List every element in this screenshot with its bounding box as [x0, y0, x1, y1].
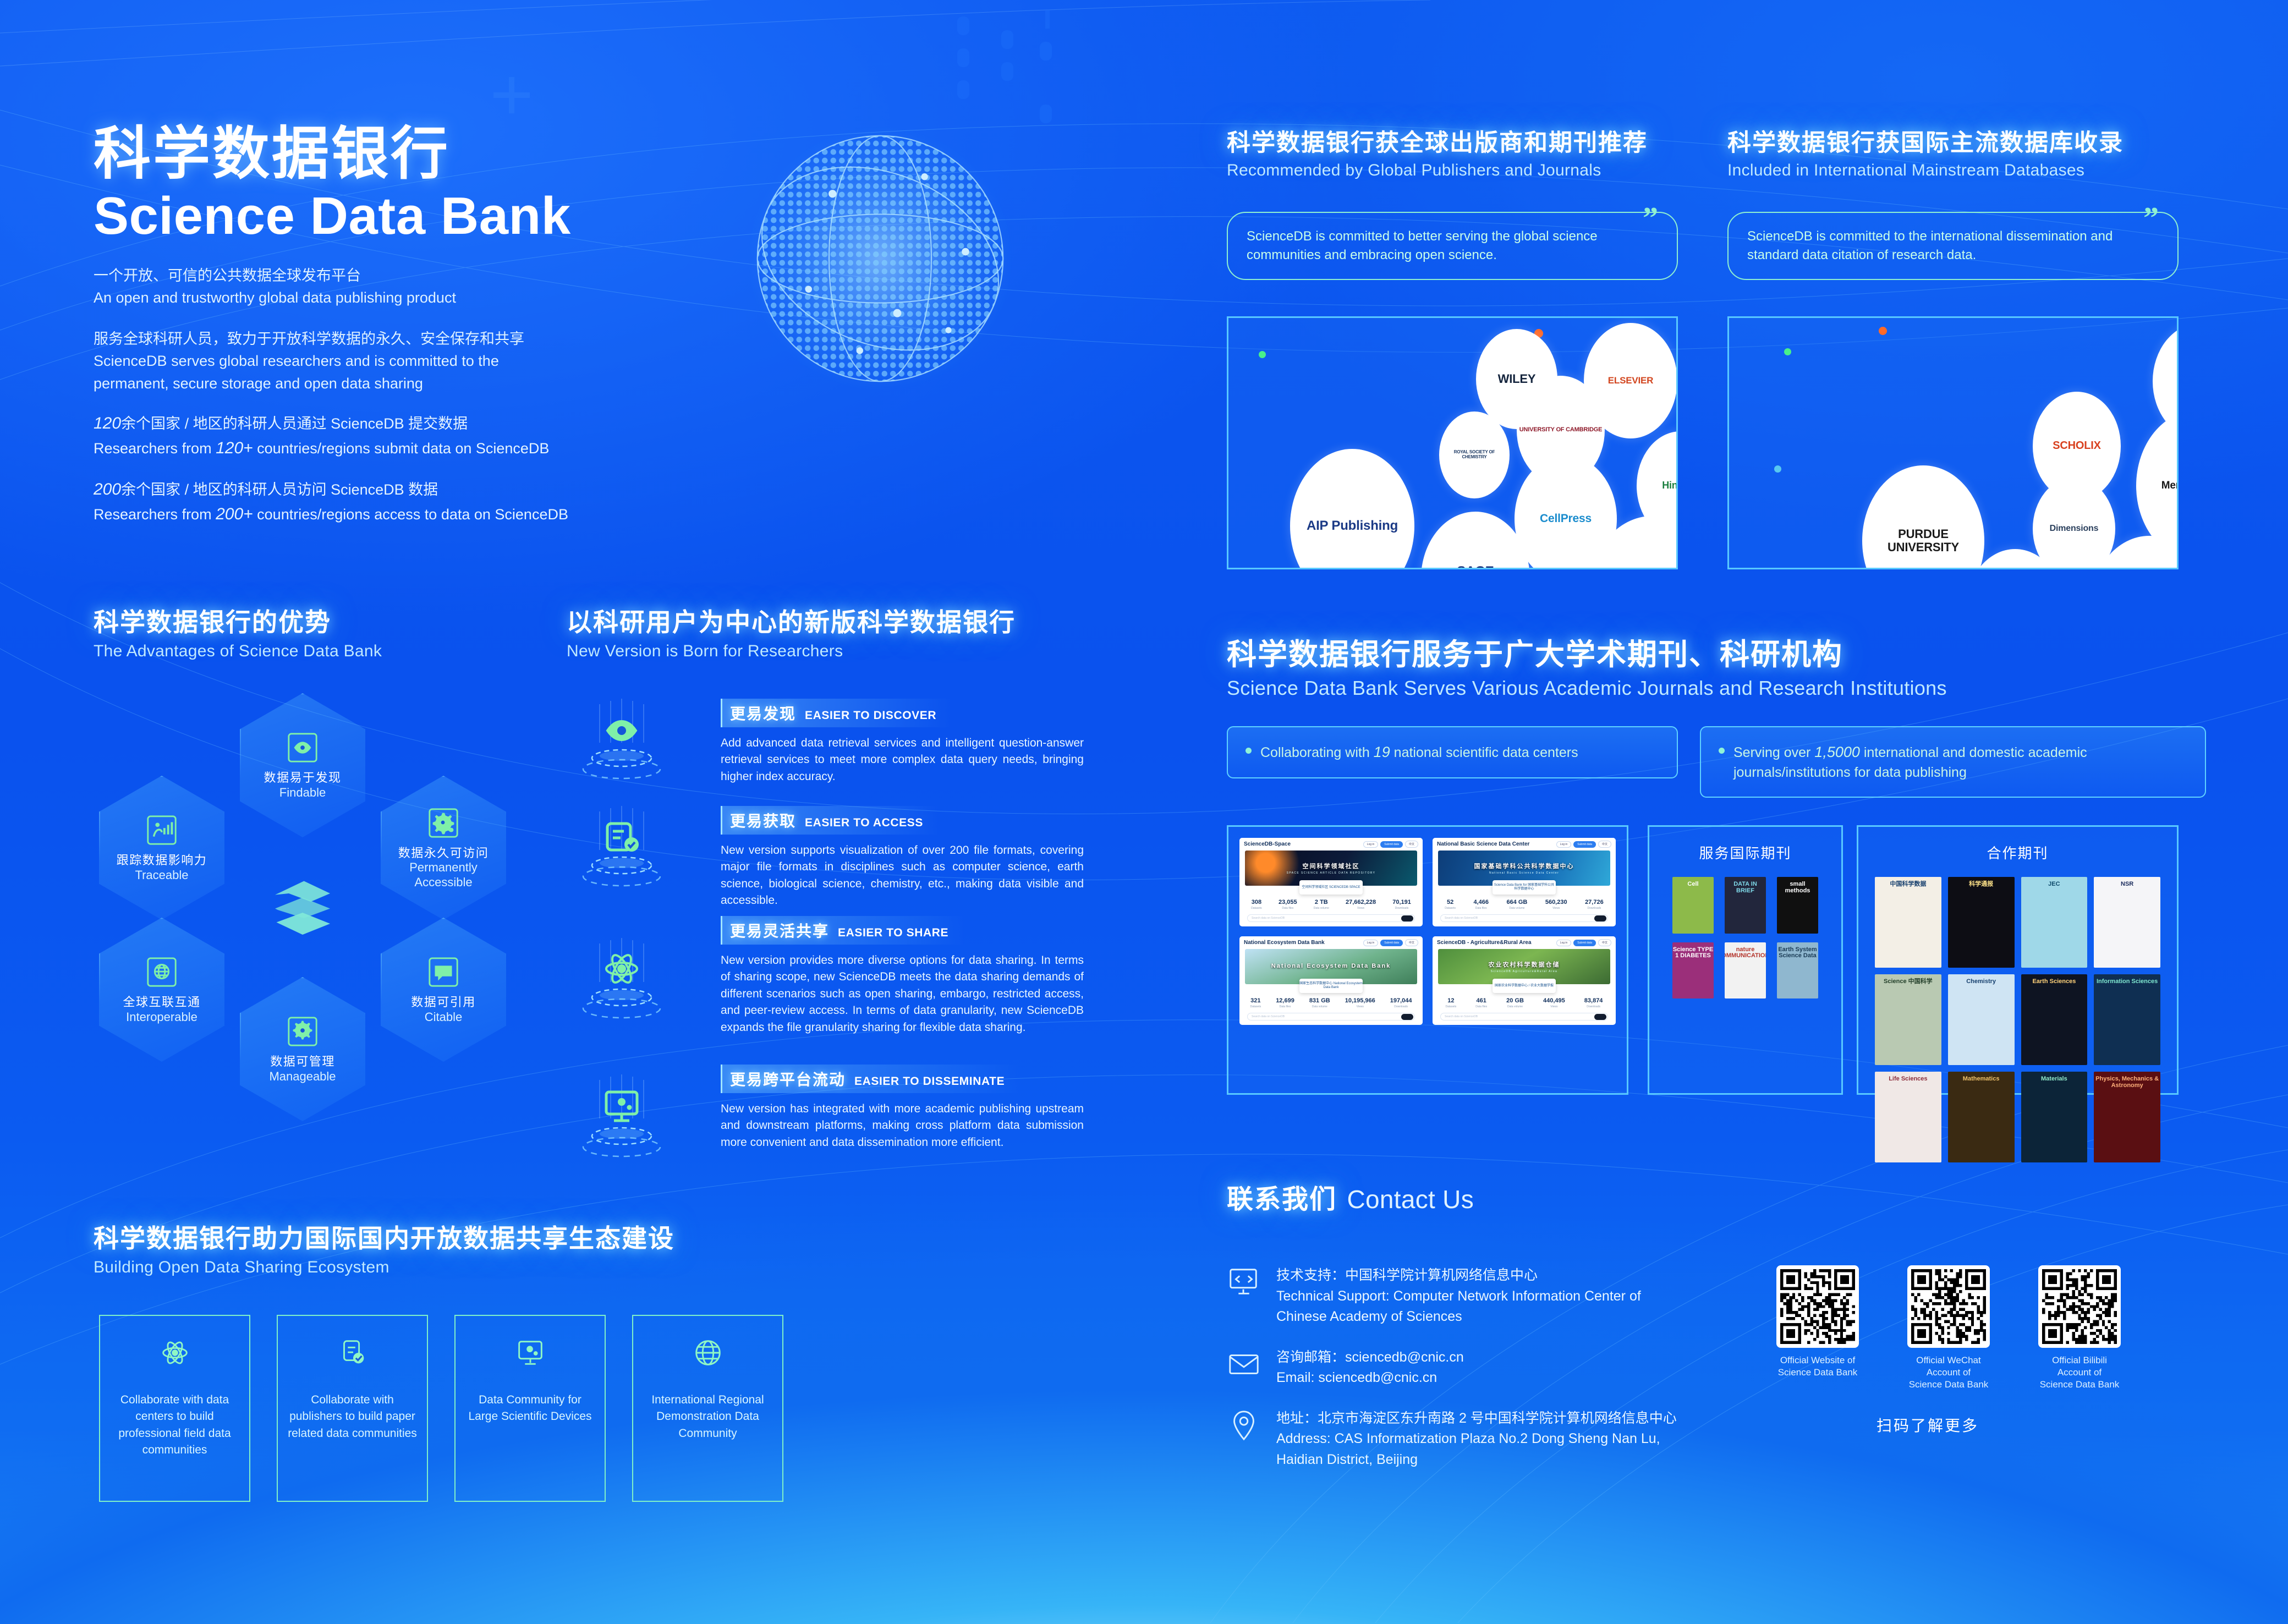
- publishers-logo-cloud: WILEYELSEVIERAMERICAN PSYCHOLOGICAL ASSO…: [1227, 316, 1678, 569]
- international-journal-covers: CellDATA IN BRIEFsmall methodsScience TY…: [1659, 877, 1831, 998]
- portal-stat: 27,726 Downloads: [1585, 899, 1604, 910]
- portal-stat-label: Data files: [1276, 1005, 1294, 1008]
- portal-stat-value: 20 GB: [1506, 997, 1524, 1004]
- feature-tag-cn: 更易跨平台流动: [730, 1068, 846, 1090]
- search-icon[interactable]: [1401, 915, 1413, 921]
- portal-stat: 23,055 Data files: [1279, 899, 1297, 910]
- logo-bubble-label: WILEY: [1496, 370, 1538, 388]
- description-cn: 服务全球科研人员，致力于开放科学数据的永久、安全保存和共享: [94, 328, 644, 350]
- portal-stat: 560,230 Views: [1545, 899, 1567, 910]
- search-icon[interactable]: [1594, 915, 1606, 921]
- portal-stat-label: Datasets: [1250, 1005, 1261, 1008]
- document-check-icon: [336, 1336, 370, 1370]
- journal-cover-title: Earth Sciences: [2032, 979, 2076, 985]
- quote-mark-icon: ”: [1643, 203, 1658, 234]
- feature-text: New version has integrated with more aca…: [721, 1101, 1084, 1151]
- contact-heading-cn: 联系我们: [1227, 1185, 1337, 1214]
- contact-heading: 联系我们 Contact Us: [1227, 1177, 1474, 1216]
- portal-hero-title: 农业农村科学数据仓储: [1489, 960, 1560, 969]
- portal-search-input[interactable]: Search data on ScienceDB: [1440, 914, 1608, 922]
- portal-stat: 440,495 Views: [1543, 997, 1565, 1008]
- logo-bubble[interactable]: PURDUE UNIVERSITY: [1862, 465, 1984, 568]
- ecosystem-box-international[interactable]: International Regional Demonstration Dat…: [632, 1315, 783, 1502]
- portal-title: National Ecosystem Data Bank: [1244, 940, 1325, 946]
- ecosystem-box-text: Collaborate with data centers to build p…: [100, 1392, 249, 1459]
- portal-topbar: National Ecosystem Data Bank Log in Subm…: [1239, 936, 1423, 949]
- qr-code-caption: Official WeChat Account of Science Data …: [1907, 1354, 1990, 1391]
- journal-cover[interactable]: Earth Sciences: [2021, 974, 2088, 1065]
- portal-stats-row: 321 Datasets 12,699 Data files 831 GB Da…: [1239, 993, 1423, 1011]
- portal-logo-card: Science Data Bank for 国家基础学科公共科学数据中心: [1493, 880, 1556, 895]
- eye-icon: [286, 731, 320, 765]
- logo-bubble-label: AIP Publishing: [1304, 517, 1400, 535]
- stat-submit: 120余个国家 / 地区的科研人员通过 ScienceDB 提交数据 Resea…: [94, 411, 644, 460]
- ecosystem-box-list: Collaborate with data centers to build p…: [99, 1315, 1045, 1502]
- contact-text-en1: Email: sciencedb@cnic.cn: [1276, 1368, 1464, 1389]
- advantages-heading-en: The Advantages of Science Data Bank: [94, 642, 382, 661]
- advantage-label-en: Manageable: [269, 1069, 336, 1084]
- contact-row-email: 咨询邮箱：sciencedb@cnic.cn Email: sciencedb@…: [1227, 1347, 1777, 1389]
- tagline-cn: 一个开放、可信的公共数据全球发布平台: [94, 265, 644, 287]
- portal-stat: 12,699 Data files: [1276, 997, 1294, 1008]
- portal-stat-value: 440,495: [1543, 997, 1565, 1004]
- portal-stat-value: 12: [1446, 997, 1457, 1004]
- tagline: 一个开放、可信的公共数据全球发布平台 An open and trustwort…: [94, 265, 644, 309]
- portal-stats-row: 12 Datasets 461 Data files 20 GB Data vo…: [1433, 993, 1616, 1011]
- portal-screenshot[interactable]: ScienceDB-Space Log in Submit data 中文 空间…: [1239, 838, 1423, 926]
- portal-stat-value: 70,191: [1392, 899, 1411, 906]
- portal-title: National Basic Science Data Center: [1437, 841, 1529, 847]
- portal-screenshot-grid: ScienceDB-Space Log in Submit data 中文 空间…: [1228, 827, 1627, 1036]
- databases-heading-cn: 科学数据银行获国际主流数据库收录: [1727, 124, 2206, 158]
- portal-stat-value: 560,230: [1545, 899, 1567, 906]
- portal-stat: 461 Data files: [1475, 997, 1487, 1008]
- feature-row: 更易发现 EASIER TO DISCOVER Add advanced dat…: [567, 699, 1117, 806]
- stat-submit-cn: 余个国家 / 地区的科研人员通过 ScienceDB 提交数据: [121, 415, 468, 432]
- comment-icon: [426, 955, 460, 989]
- journal-cover[interactable]: DATA IN BRIEF: [1725, 877, 1766, 934]
- advantage-label-en: Interoperable: [126, 1010, 197, 1024]
- portal-stat-value: 321: [1250, 997, 1261, 1004]
- journal-cover-title: DATA IN BRIEF: [1725, 881, 1766, 894]
- contact-row-support: 技术支持：中国科学院计算机网络信息中心 Technical Support: C…: [1227, 1265, 1777, 1327]
- journal-cover-title: Cell: [1687, 881, 1698, 888]
- journal-cover[interactable]: Information Sciences: [2094, 974, 2160, 1065]
- contact-row-address: 地址：北京市海淀区东升南路 2 号中国科学院计算机网络信息中心 Address:…: [1227, 1408, 1777, 1471]
- portal-stat: 12 Datasets: [1446, 997, 1457, 1008]
- qr-code-image[interactable]: [1907, 1265, 1990, 1348]
- sciencedb-logo-mark: [261, 866, 344, 948]
- advantage-hex-findable[interactable]: 数据易于发现 Findable: [240, 693, 365, 837]
- code-window-icon: [1227, 1265, 1261, 1299]
- portal-login-button[interactable]: Log in: [1556, 841, 1572, 848]
- advantage-hex-permanently-accessible[interactable]: 数据永久可访问 Permanently Accessible: [381, 776, 506, 920]
- stat-access-en-a: Researchers from: [94, 506, 216, 523]
- stat-access-en-number: 200+: [216, 505, 253, 523]
- qr-code-image[interactable]: [1776, 1265, 1859, 1348]
- portal-stat-label: Data volume: [1309, 1005, 1330, 1008]
- ecosystem-heading-cn: 科学数据银行助力国际国内开放数据共享生态建设: [94, 1219, 674, 1255]
- contact-text-cn: 地址：北京市海淀区东升南路 2 号中国科学院计算机网络信息中心: [1276, 1408, 1677, 1429]
- journal-cover[interactable]: Science 中国科学: [1875, 974, 1941, 1065]
- portal-title: ScienceDB-Space: [1244, 841, 1291, 847]
- portal-screenshot-panel: ScienceDB-Space Log in Submit data 中文 空间…: [1227, 825, 1628, 1095]
- newversion-heading: 以科研用户为中心的新版科学数据银行 New Version is Born fo…: [567, 602, 1016, 661]
- stat-access: 200余个国家 / 地区的科研人员访问 ScienceDB 数据 Researc…: [94, 477, 644, 526]
- portal-lang-button[interactable]: 中文: [1405, 841, 1418, 848]
- logo-bubble-label: PURDUE UNIVERSITY: [1862, 525, 1984, 556]
- portal-stat-label: Data files: [1473, 907, 1489, 910]
- portal-stat-label: Views: [1346, 907, 1376, 910]
- feature-row: 更易跨平台流动 EASIER TO DISSEMINATE New versio…: [567, 1065, 1117, 1175]
- ecosystem-heading: 科学数据银行助力国际国内开放数据共享生态建设 Building Open Dat…: [94, 1219, 674, 1277]
- databases-heading: 科学数据银行获国际主流数据库收录 Included in Internation…: [1727, 124, 2206, 180]
- chart-hand-icon: [145, 813, 179, 847]
- journal-cover-title: 中国科学数据: [1890, 881, 1926, 888]
- portal-stat-value: 308: [1251, 899, 1262, 906]
- portal-stat-value: 27,726: [1585, 899, 1604, 906]
- page-title-en: Science Data Bank: [94, 186, 644, 246]
- feature-tag-en: EASIER TO DISSEMINATE: [854, 1075, 1005, 1088]
- logo-bubble-label: CellPress: [1538, 511, 1594, 528]
- feature-text: New version provides more diverse option…: [721, 952, 1084, 1036]
- portal-hero-subtitle: ScienceDB Agriculture&Rural Area: [1489, 970, 1560, 973]
- search-icon[interactable]: [1594, 1014, 1606, 1020]
- portal-logo-card: 空间科学领域社区 SCIENCEDB SPACE: [1299, 880, 1363, 895]
- portal-search-input[interactable]: Search data on ScienceDB: [1247, 914, 1415, 922]
- portal-logo-card: 国家农业科学数据中心 / 农业大数据学报: [1493, 979, 1556, 993]
- portal-submit-button[interactable]: Submit data: [1573, 940, 1596, 946]
- portal-lang-button[interactable]: 中文: [1598, 841, 1611, 848]
- portal-stat: 2 TB Data volume: [1314, 899, 1329, 910]
- journal-cover[interactable]: Earth System Science Data: [1777, 942, 1818, 999]
- publishers-heading-cn: 科学数据银行获全球出版商和期刊推荐: [1227, 124, 1705, 158]
- left-column: 科学数据银行 Science Data Bank 一个开放、可信的公共数据全球发…: [0, 0, 1199, 1624]
- gear-dot-icon: [426, 806, 460, 840]
- portal-search-input[interactable]: Search data on ScienceDB: [1247, 1013, 1415, 1021]
- portal-lang-button[interactable]: 中文: [1598, 939, 1611, 946]
- feature-tag: 更易跨平台流动 EASIER TO DISSEMINATE: [721, 1065, 1020, 1093]
- portal-stat-label: Data files: [1475, 1005, 1487, 1008]
- publishers-heading: 科学数据银行获全球出版商和期刊推荐 Recommended by Global …: [1227, 124, 1705, 180]
- portal-hero-title: National Ecosystem Data Bank: [1271, 963, 1391, 969]
- advantage-hex-traceable[interactable]: 跟踪数据影响力 Traceable: [99, 776, 224, 920]
- logo-bubble[interactable]: AIP Publishing: [1290, 449, 1414, 568]
- portal-stat: 321 Datasets: [1250, 997, 1261, 1008]
- contact-text-en1: Address: CAS Informatization Plaza No.2 …: [1276, 1429, 1677, 1450]
- decor-dot: [1784, 348, 1791, 355]
- portal-stat-value: 4,466: [1473, 899, 1489, 906]
- journal-cover[interactable]: JEC: [2021, 877, 2088, 968]
- qr-caption-line2: Science Data Bank: [1909, 1379, 1989, 1390]
- feature-tag-en: EASIER TO DISCOVER: [805, 709, 936, 722]
- advantages-hexagon-cluster: 数据易于发现 Findable 数据永久可访问 Permanently Acce…: [99, 693, 506, 1122]
- international-journals-title: 服务国际期刊: [1659, 842, 1831, 863]
- qr-code-item[interactable]: Official WeChat Account of Science Data …: [1907, 1265, 1990, 1391]
- advantage-label-cn: 数据永久可访问: [398, 846, 489, 861]
- portal-search-placeholder: Search data on ScienceDB: [1445, 917, 1478, 920]
- journal-cover-title: Materials: [2041, 1076, 2067, 1083]
- qr-code-item[interactable]: Official Website of Science Data Bank: [1776, 1265, 1859, 1391]
- scan-more-label: 扫码了解更多: [1776, 1414, 2079, 1436]
- monitor-gear-icon: [513, 1336, 547, 1370]
- journal-cover-title: Science 中国科学: [1884, 979, 1933, 985]
- ecosystem-box-text: Data Community for Large Scientific Devi…: [456, 1392, 605, 1425]
- databases-quote: ” ScienceDB is committed to the internat…: [1727, 212, 2179, 280]
- journal-cover-title: Chemistry: [1966, 979, 1996, 985]
- portal-logo-card: 国家生态科学数据中心 National Ecosystem Data Bank: [1299, 979, 1363, 993]
- qr-caption-line1: Official Website of: [1780, 1355, 1855, 1365]
- portal-stat: 831 GB Data volume: [1309, 997, 1330, 1008]
- ecosystem-box-text: Collaborate with publishers to build pap…: [278, 1392, 427, 1442]
- portal-stat: 308 Datasets: [1251, 899, 1262, 910]
- portal-stat-value: 2 TB: [1314, 899, 1329, 906]
- portal-login-button[interactable]: Log in: [1556, 940, 1572, 946]
- cooperative-journal-covers: 中国科学数据科学通报JECNSRScience 中国科学ChemistryEar…: [1868, 877, 2167, 1162]
- portal-submit-button[interactable]: Submit data: [1380, 940, 1403, 946]
- stat-submit-en-b: countries/regions submit data on Science…: [253, 440, 550, 457]
- serves-heading: 科学数据银行服务于广大学术期刊、科研机构 Science Data Bank S…: [1227, 630, 1947, 700]
- globe-icon: [691, 1336, 725, 1370]
- advantage-label-cn: 全球互联互通: [123, 995, 200, 1010]
- feature-tag-en: EASIER TO SHARE: [838, 926, 948, 940]
- portal-topbar: ScienceDB-Space Log in Submit data 中文: [1239, 838, 1423, 851]
- journal-cover[interactable]: Materials: [2021, 1072, 2088, 1162]
- contact-text-en1: Technical Support: Computer Network Info…: [1276, 1286, 1641, 1307]
- qr-code-caption: Official Website of Science Data Bank: [1776, 1354, 1859, 1379]
- contact-text-cn: 技术支持：中国科学院计算机网络信息中心: [1276, 1265, 1641, 1286]
- portal-stat-label: Downloads: [1392, 907, 1411, 910]
- contact-text-en2: Chinese Academy of Sciences: [1276, 1307, 1641, 1327]
- portal-stat-label: Views: [1545, 907, 1567, 910]
- portal-hero-title: 国家基础学科公共科学数据中心: [1474, 862, 1574, 870]
- journal-cover-title: Mathematics: [1963, 1076, 2000, 1083]
- logo-bubble-label: ELSEVIER: [1606, 374, 1655, 388]
- logo-bubble-label: SAGE Publishing: [1421, 562, 1530, 568]
- advantage-label-cn: 跟踪数据影响力: [117, 853, 207, 868]
- bullet-dot-icon: [1719, 748, 1725, 754]
- journal-cover-title: Science TYPE 1 DIABETES: [1672, 947, 1714, 959]
- serves-heading-cn: 科学数据银行服务于广大学术期刊、科研机构: [1227, 630, 1947, 673]
- portal-search-placeholder: Search data on ScienceDB: [1445, 1015, 1478, 1018]
- newversion-feature-list: 更易发现 EASIER TO DISCOVER Add advanced dat…: [567, 699, 1117, 1175]
- search-icon[interactable]: [1401, 1014, 1413, 1020]
- ecosystem-box-data-centers[interactable]: Collaborate with data centers to build p…: [99, 1315, 250, 1502]
- portal-stat: 70,191 Downloads: [1392, 899, 1411, 910]
- stat-submit-en-a: Researchers from: [94, 440, 216, 457]
- newversion-heading-en: New Version is Born for Researchers: [567, 642, 1016, 661]
- portal-stats-row: 52 Datasets 4,466 Data files 664 GB Data…: [1433, 895, 1616, 912]
- advantages-heading: 科学数据银行的优势 The Advantages of Science Data…: [94, 602, 382, 661]
- contact-heading-en: Contact Us: [1347, 1185, 1474, 1214]
- decor-dot: [1774, 465, 1781, 473]
- portal-stat: 20 GB Data volume: [1506, 997, 1524, 1008]
- portal-stat-value: 197,044: [1390, 997, 1412, 1004]
- advantage-label-en: Citable: [425, 1010, 462, 1024]
- publishers-quote: ” ScienceDB is committed to better servi…: [1227, 212, 1678, 280]
- advantage-hex-interoperable[interactable]: 全球互联互通 Interoperable: [99, 918, 224, 1062]
- quote-mark-icon: ”: [2143, 203, 2159, 234]
- journal-cover-title: Earth System Science Data: [1777, 947, 1818, 959]
- portal-search-input[interactable]: Search data on ScienceDB: [1440, 1013, 1608, 1021]
- portal-lang-button[interactable]: 中文: [1405, 939, 1418, 946]
- journal-cover[interactable]: 中国科学数据: [1875, 877, 1941, 968]
- logo-bubble-label: SCHOLIX: [2050, 438, 2103, 454]
- pill-text-b: national scientific data centers: [1390, 745, 1578, 760]
- advantage-hex-citable[interactable]: 数据可引用 Citable: [381, 918, 506, 1062]
- feature-tag-cn: 更易发现: [730, 702, 796, 724]
- stat-access-number: 200: [94, 480, 121, 498]
- databases-quote-text: ScienceDB is committed to the internatio…: [1747, 229, 2113, 262]
- publishers-heading-en: Recommended by Global Publishers and Jou…: [1227, 161, 1705, 180]
- journal-cover[interactable]: Life Sciences: [1875, 1072, 1941, 1162]
- cooperative-journals-panel: 合作期刊 中国科学数据科学通报JECNSRScience 中国科学Chemist…: [1857, 825, 2179, 1095]
- gear-icon: [286, 1014, 320, 1049]
- portal-login-button[interactable]: Log in: [1363, 940, 1379, 946]
- portal-search-placeholder: Search data on ScienceDB: [1252, 1015, 1285, 1018]
- journal-cover[interactable]: 科学通报: [1948, 877, 2015, 968]
- portal-stat: 52 Datasets: [1445, 899, 1456, 910]
- journal-cover-title: Information Sciences: [2097, 979, 2158, 985]
- portal-stat-value: 831 GB: [1309, 997, 1330, 1004]
- feature-row: 更易获取 EASIER TO ACCESS New version suppor…: [567, 806, 1117, 916]
- qr-code-image[interactable]: [2038, 1265, 2121, 1348]
- portal-submit-button[interactable]: Submit data: [1380, 841, 1403, 848]
- portal-stat-label: Data volume: [1314, 907, 1329, 910]
- qr-caption-line2: Science Data Bank: [1778, 1367, 1858, 1378]
- international-journals-panel: 服务国际期刊 CellDATA IN BRIEFsmall methodsSci…: [1648, 825, 1843, 1095]
- holo-pedestal-atom-icon: [567, 938, 677, 1037]
- advantage-label-en: Permanently Accessible: [381, 860, 506, 890]
- portal-stat-label: Data files: [1279, 907, 1297, 910]
- stat-submit-number: 120: [94, 414, 121, 432]
- contact-text-en2: Haidian District, Beijing: [1276, 1450, 1677, 1471]
- publishers-quote-text: ScienceDB is committed to better serving…: [1247, 229, 1598, 262]
- holo-pedestal-document-check-icon: [567, 806, 677, 905]
- tagline-en: An open and trustworthy global data publ…: [94, 287, 644, 309]
- feature-tag: 更易灵活共享 EASIER TO SHARE: [721, 916, 964, 945]
- sciencedb-logo: [240, 835, 365, 979]
- portal-submit-button[interactable]: Submit data: [1573, 841, 1596, 848]
- portal-search-placeholder: Search data on ScienceDB: [1252, 917, 1285, 920]
- ecosystem-heading-en: Building Open Data Sharing Ecosystem: [94, 1258, 674, 1277]
- advantage-label-cn: 数据可引用: [411, 995, 476, 1010]
- feature-row: 更易灵活共享 EASIER TO SHARE New version provi…: [567, 916, 1117, 1065]
- masthead: 科学数据银行 Science Data Bank 一个开放、可信的公共数据全球发…: [94, 124, 644, 526]
- stat-pill-journals: Serving over 1,5000 international and do…: [1700, 726, 2206, 798]
- feature-tag-cn: 更易获取: [730, 809, 796, 831]
- stat-access-en-b: countries/regions access to data on Scie…: [253, 506, 568, 523]
- qr-code-caption: Official Bilibili Account of Science Dat…: [2038, 1354, 2121, 1391]
- map-pin-icon: [1227, 1408, 1261, 1442]
- portal-stat-value: 10,195,966: [1345, 997, 1375, 1004]
- holo-pedestal-eye-icon: [567, 699, 677, 798]
- journal-cover-title: Life Sciences: [1889, 1076, 1927, 1083]
- portal-hero-subtitle: SPACE SCIENCE ARTICLE DATA REPOSITORY: [1287, 871, 1376, 875]
- portal-stat: 83,874 Downloads: [1584, 997, 1603, 1008]
- portal-stat-label: Datasets: [1445, 907, 1456, 910]
- newversion-heading-cn: 以科研用户为中心的新版科学数据银行: [567, 602, 1016, 639]
- logo-bubble[interactable]: ROYAL SOCIETY OF CHEMISTRY: [1439, 412, 1510, 498]
- logo-bubble-label: Mendeley Data: [2159, 478, 2177, 494]
- databases-logo-cloud: BASEData Citation IndexSCHOLIXMendeley D…: [1727, 316, 2179, 569]
- journal-cover[interactable]: NSR: [2094, 877, 2160, 968]
- qr-code-section: Official Website of Science Data Bank Of…: [1776, 1265, 2216, 1436]
- pill-text-a: Serving over: [1733, 745, 1814, 760]
- qr-caption-line2: Science Data Bank: [2040, 1379, 2120, 1390]
- ecosystem-box-large-devices[interactable]: Data Community for Large Scientific Devi…: [454, 1315, 606, 1502]
- bullet-dot-icon: [1245, 748, 1252, 754]
- description-en-line2: permanent, secure storage and open data …: [94, 372, 644, 395]
- page-title-cn: 科学数据银行: [94, 124, 644, 184]
- databases-heading-en: Included in International Mainstream Dat…: [1727, 161, 2206, 180]
- journal-cover[interactable]: Cell: [1672, 877, 1714, 934]
- journal-cover[interactable]: Science TYPE 1 DIABETES: [1672, 942, 1714, 999]
- journal-cover-title: 科学通报: [1969, 881, 1993, 888]
- journal-cover-title: NSR: [2121, 881, 2133, 888]
- advantage-label-en: Traceable: [135, 868, 188, 882]
- advantage-hex-manageable[interactable]: 数据可管理 Manageable: [240, 977, 365, 1121]
- journal-cover[interactable]: nature COMMUNICATIONS: [1725, 942, 1766, 999]
- feature-tag-cn: 更易灵活共享: [730, 919, 829, 941]
- decor-dot: [1259, 351, 1266, 358]
- feature-tag: 更易发现 EASIER TO DISCOVER: [721, 699, 952, 727]
- portal-hero-subtitle: National Basic Science Data Center: [1474, 871, 1574, 875]
- portal-stat-label: Datasets: [1446, 1005, 1457, 1008]
- feature-text: Add advanced data retrieval services and…: [721, 735, 1084, 785]
- feature-tag: 更易获取 EASIER TO ACCESS: [721, 806, 939, 835]
- right-column: 科学数据银行获全球出版商和期刊推荐 Recommended by Global …: [1199, 0, 2288, 1624]
- portal-screenshot[interactable]: ScienceDB - Agriculture&Rural Area Log i…: [1433, 936, 1616, 1025]
- portal-screenshot[interactable]: National Ecosystem Data Bank Log in Subm…: [1239, 936, 1423, 1025]
- portal-stat-label: Data volume: [1506, 1005, 1524, 1008]
- journal-cover[interactable]: Chemistry: [1948, 974, 2015, 1065]
- logo-bubble[interactable]: Dimensions: [2033, 478, 2115, 568]
- holo-pedestal-monitor-gear-icon: [567, 1074, 677, 1173]
- journal-cover[interactable]: small methods: [1777, 877, 1818, 934]
- portal-stat-label: Data volume: [1506, 907, 1527, 910]
- journal-cover[interactable]: Mathematics: [1948, 1072, 2015, 1162]
- contact-info-list: 技术支持：中国科学院计算机网络信息中心 Technical Support: C…: [1227, 1265, 1777, 1490]
- pill-number: 19: [1374, 744, 1390, 760]
- portal-stat-label: Views: [1543, 1005, 1565, 1008]
- portal-stat: 27,662,228 Views: [1346, 899, 1376, 910]
- journal-cover[interactable]: Physics, Mechanics & Astronomy: [2094, 1072, 2160, 1162]
- stat-pill-data-centers: Collaborating with 19 national scientifi…: [1227, 726, 1678, 778]
- portal-stat-value: 664 GB: [1506, 899, 1527, 906]
- portal-stats-row: 308 Datasets 23,055 Data files 2 TB Data…: [1239, 895, 1423, 912]
- logo-bubble[interactable]: SAGE Publishing: [1421, 512, 1530, 568]
- portal-screenshot[interactable]: National Basic Science Data Center Log i…: [1433, 838, 1616, 926]
- portal-stat-value: 12,699: [1276, 997, 1294, 1004]
- advantage-label-en: Findable: [279, 786, 326, 800]
- atom-icon: [158, 1336, 192, 1370]
- qr-code-item[interactable]: Official Bilibili Account of Science Dat…: [2038, 1265, 2121, 1391]
- logo-bubble-label: ROYAL SOCIETY OF CHEMISTRY: [1439, 448, 1510, 462]
- portal-title: ScienceDB - Agriculture&Rural Area: [1437, 940, 1532, 946]
- portal-stat-value: 27,662,228: [1346, 899, 1376, 906]
- logo-bubble-label: Hindawi: [1660, 478, 1676, 493]
- journal-cover-title: nature COMMUNICATIONS: [1725, 947, 1766, 959]
- pill-text-a: Collaborating with: [1260, 745, 1374, 760]
- cooperative-journals-title: 合作期刊: [1868, 842, 2167, 863]
- ecosystem-box-publishers[interactable]: Collaborate with publishers to build pap…: [277, 1315, 428, 1502]
- portal-login-button[interactable]: Log in: [1363, 841, 1379, 848]
- portal-stat-value: 23,055: [1279, 899, 1297, 906]
- globe-icon: [145, 955, 179, 989]
- advantage-label-cn: 数据可管理: [270, 1054, 335, 1069]
- journal-cover-title: JEC: [2048, 881, 2060, 888]
